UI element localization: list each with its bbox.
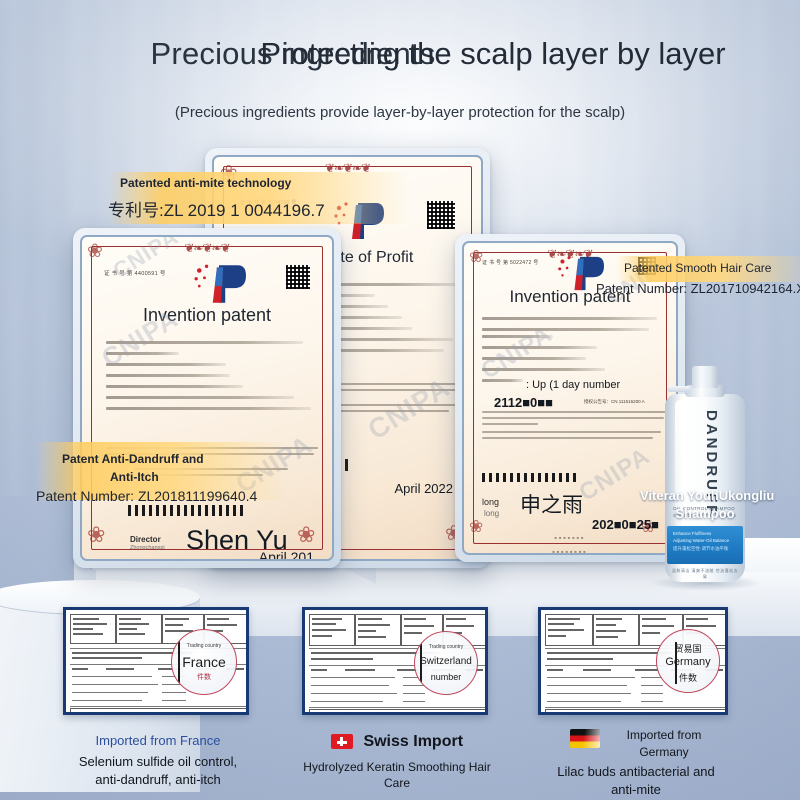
badge-label-top: Trading country bbox=[172, 643, 236, 649]
certificate-back-qr-code bbox=[427, 201, 455, 229]
callout-smooth-hair: Patented Smooth Hair Care Patent Number:… bbox=[608, 256, 800, 310]
certificate-right-footer-line: ■■■■■■■ bbox=[464, 535, 676, 540]
import-card-germany[interactable]: 贸易国 Germany 件数 Imported from Germany Lil… bbox=[538, 607, 734, 795]
bottle-footer-text: 温和清洁 清爽不油腻 控油蓬松去屑 bbox=[671, 568, 739, 580]
import-caption-title-switzerland: Swiss Import bbox=[363, 733, 463, 750]
callout-smooth-hair-line2: Patent Number: ZL201710942164.X bbox=[596, 281, 800, 296]
certificate-right-signature: 申之雨 bbox=[520, 489, 583, 519]
import-badge-switzerland: Trading country Switzerland number bbox=[414, 631, 478, 695]
import-badge-germany: 贸易国 Germany 件数 bbox=[656, 629, 720, 693]
certificate-front-director-label: Director bbox=[130, 535, 161, 544]
ornament-corner-bl: ❀ bbox=[469, 518, 499, 548]
badge-label-top: Trading country bbox=[415, 644, 477, 650]
certificate-top-ornament: ❦❧❦❧❦ bbox=[184, 241, 229, 255]
badge-country: Germany bbox=[657, 656, 719, 668]
badge-label-top: 贸易国 bbox=[657, 642, 719, 655]
product-shampoo-bottle[interactable]: DANDRUFF OIL CONTROL SHAMPOO SOURCE OF F… bbox=[659, 366, 751, 582]
certificate-right-long-label-2: long bbox=[484, 509, 499, 518]
certificate-right-overlay-up: : Up (1 day number bbox=[526, 379, 620, 391]
page-subtitle: (Precious ingredients provide layer-by-l… bbox=[0, 104, 800, 121]
swiss-flag-icon bbox=[331, 734, 353, 749]
certificate-front-qr-code bbox=[286, 265, 310, 289]
bottle-cap bbox=[692, 366, 718, 388]
badge-label-bottom: 件数 bbox=[172, 672, 236, 682]
certificate-right-serial: 证 书 号 第 5022472 号 bbox=[482, 259, 539, 266]
import-caption-body-france: Selenium sulfide oil control, anti-dandr… bbox=[63, 753, 253, 788]
certificate-front-inner: ❦❧❦❧❦ ❀ ❀ ❀ 证 书 号 第 4400591 号 Invention … bbox=[80, 235, 334, 561]
bottle-overlay-line2: Shampoo bbox=[640, 506, 770, 521]
bottle-overlay-line1: Viteran YouhUkongliu bbox=[640, 488, 770, 503]
import-card-switzerland[interactable]: Trading country Switzerland number Swiss… bbox=[302, 607, 492, 795]
import-badge-france: Trading country France 件数 bbox=[171, 629, 237, 695]
callout-anti-dandruff: Patent Anti-Dandruff and Anti-Itch Paten… bbox=[36, 442, 296, 506]
bottle-band-line1: Enhance Fluffiness bbox=[667, 526, 743, 537]
import-caption-title-germany: Imported from Germany bbox=[594, 727, 734, 761]
import-caption-body-germany: Lilac buds antibacterial and anti-mite bbox=[538, 763, 734, 798]
certificate-front[interactable]: ❦❧❦❧❦ ❀ ❀ ❀ 证 书 号 第 4400591 号 Invention … bbox=[73, 228, 341, 568]
callout-anti-mite-line2: 专利号:ZL 2019 1 0044196.7 bbox=[108, 196, 408, 221]
certificate-right-grant-no: 授权公告号：CN 111516200 A bbox=[584, 399, 645, 405]
import-caption-title-france: Imported from France bbox=[63, 733, 253, 748]
cnipa-logo-icon bbox=[192, 261, 246, 307]
callout-anti-mite: Patented anti-mite technology 专利号:ZL 201… bbox=[108, 172, 408, 228]
ornament-corner-tl: ❀ bbox=[87, 242, 117, 272]
import-card-france[interactable]: Trading country France 件数 Imported from … bbox=[63, 607, 253, 795]
badge-country: France bbox=[172, 654, 236, 670]
certificate-right-overlay-number: 2112■0■■ bbox=[494, 395, 553, 410]
badge-country: Switzerland bbox=[415, 656, 477, 667]
badge-label-bottom: 件数 bbox=[657, 671, 719, 684]
certificate-front-director-sub: Zhongchangzi bbox=[130, 545, 165, 551]
bottle-label-band: Enhance Fluffiness Adjusting Water-Oil B… bbox=[667, 526, 743, 564]
certificate-front-body-lines bbox=[106, 341, 320, 418]
bottle-pump-spout-icon bbox=[667, 386, 691, 392]
ornament-corner-bl: ❀ bbox=[87, 524, 117, 554]
bottle-band-line2: Adjusting Water-Oil Balance bbox=[667, 537, 743, 544]
import-caption-body-switzerland: Hydrolyzed Keratin Smoothing Hair Care bbox=[302, 759, 492, 791]
poster-stage: Precious ingredients Protecting the scal… bbox=[0, 0, 800, 800]
bottle-overlay-label: Viteran YouhUkongliu Shampoo bbox=[640, 488, 770, 521]
callout-anti-dandruff-line1: Patent Anti-Dandruff and bbox=[62, 452, 322, 466]
certificate-right-barcode bbox=[482, 473, 580, 482]
certificate-front-date: April 201 bbox=[259, 549, 314, 561]
callout-anti-dandruff-line1b: Anti-Itch bbox=[110, 470, 370, 484]
certificate-right-paragraph bbox=[482, 411, 668, 443]
badge-label-bottom: number bbox=[415, 672, 477, 682]
certificate-right-long-label-1: long bbox=[482, 497, 499, 507]
bottle-band-cn: 提升蓬松空性·调节水油平衡 bbox=[667, 544, 743, 552]
callout-smooth-hair-line1: Patented Smooth Hair Care bbox=[624, 261, 800, 275]
certificate-front-serial: 证 书 号 第 4400591 号 bbox=[104, 269, 166, 277]
certificate-front-barcode bbox=[128, 505, 246, 516]
certificate-right-footer-line-2: ■■■■■■■■ bbox=[464, 549, 676, 554]
certificate-back-date: April 2022 bbox=[394, 481, 453, 496]
callout-anti-mite-line1: Patented anti-mite technology bbox=[120, 176, 420, 190]
certificate-front-heading: Invention patent bbox=[82, 305, 332, 326]
page-title-right: Protecting the scalp layer by layer bbox=[93, 36, 800, 72]
callout-anti-dandruff-line2: Patent Number: ZL201811199640.4 bbox=[36, 488, 296, 504]
